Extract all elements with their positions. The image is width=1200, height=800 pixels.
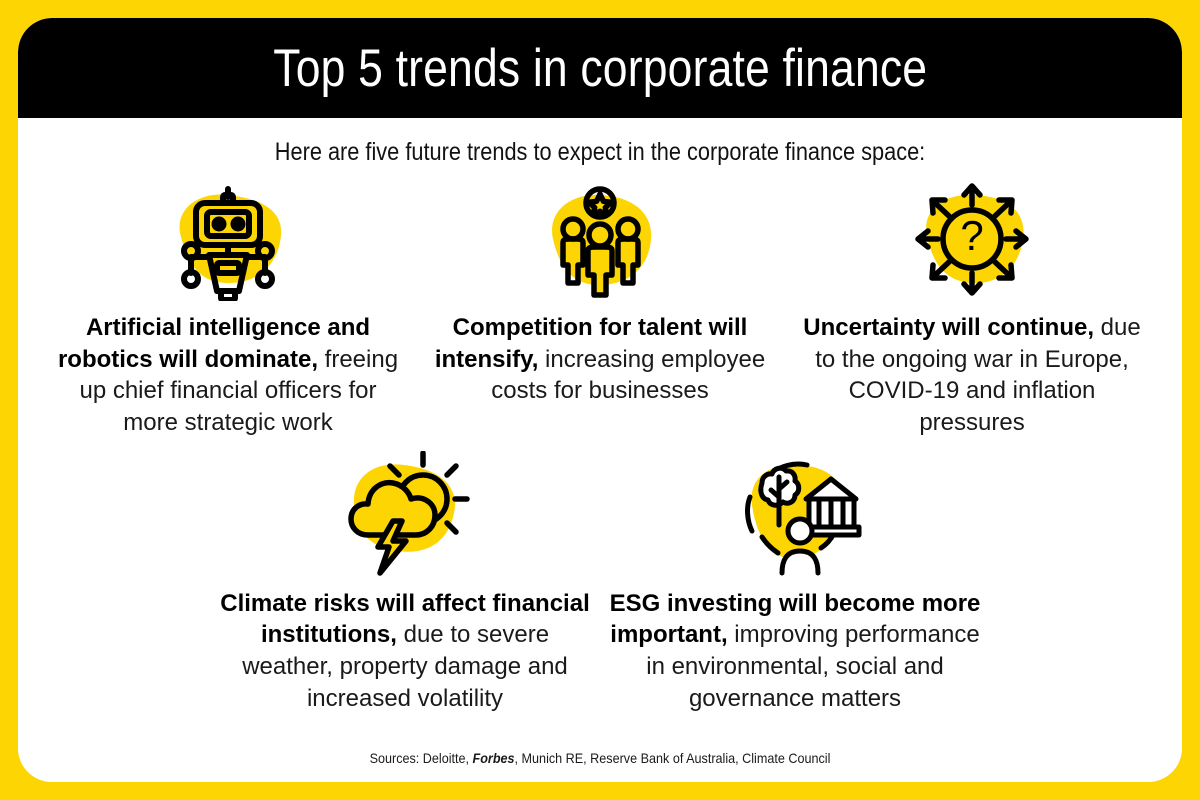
people-star-icon <box>525 177 675 302</box>
trends-row-top: Artificial intelligence and robotics wil… <box>24 177 1176 439</box>
storm-cloud-sun-icon <box>330 453 480 578</box>
question-arrows-icon: ? <box>897 177 1047 302</box>
robot-icon <box>153 177 303 302</box>
trends-grid: Artificial intelligence and robotics wil… <box>18 165 1182 750</box>
trend-item-uncertainty: ? Uncertainty will continue, due to the … <box>786 177 1158 439</box>
header-bar: Top 5 trends in corporate finance <box>18 18 1182 118</box>
trend-bold-uncertainty: Uncertainty will continue, <box>803 314 1094 341</box>
trend-text-uncertainty: Uncertainty will continue, due to the on… <box>792 312 1152 439</box>
esg-tree-bank-person-icon <box>720 453 870 578</box>
infographic-card: Top 5 trends in corporate finance Here a… <box>18 18 1182 782</box>
sources-footer: Sources: Deloitte, Forbes, Munich RE, Re… <box>76 750 1124 782</box>
page-title: Top 5 trends in corporate finance <box>273 42 927 95</box>
subtitle: Here are five future trends to expect in… <box>94 140 1107 165</box>
trend-item-ai-robotics: Artificial intelligence and robotics wil… <box>42 177 414 439</box>
sources-emphasis: Forbes <box>473 750 515 766</box>
content-area: Here are five future trends to expect in… <box>18 118 1182 782</box>
sources-prefix: Sources: Deloitte, <box>370 750 473 766</box>
trend-item-esg: ESG investing will become more important… <box>600 453 990 715</box>
trend-text-esg: ESG investing will become more important… <box>606 588 984 715</box>
trend-text-ai-robotics: Artificial intelligence and robotics wil… <box>48 312 408 439</box>
trend-item-climate: Climate risks will affect financial inst… <box>210 453 600 715</box>
sources-suffix: , Munich RE, Reserve Bank of Australia, … <box>515 750 831 766</box>
trend-item-talent: Competition for talent will intensify, i… <box>414 177 786 439</box>
trends-row-bottom: Climate risks will affect financial inst… <box>24 453 1176 715</box>
trend-text-climate: Climate risks will affect financial inst… <box>216 588 594 715</box>
infographic-root: Top 5 trends in corporate finance Here a… <box>0 0 1200 800</box>
svg-text:?: ? <box>960 212 983 259</box>
trend-text-talent: Competition for talent will intensify, i… <box>420 312 780 407</box>
